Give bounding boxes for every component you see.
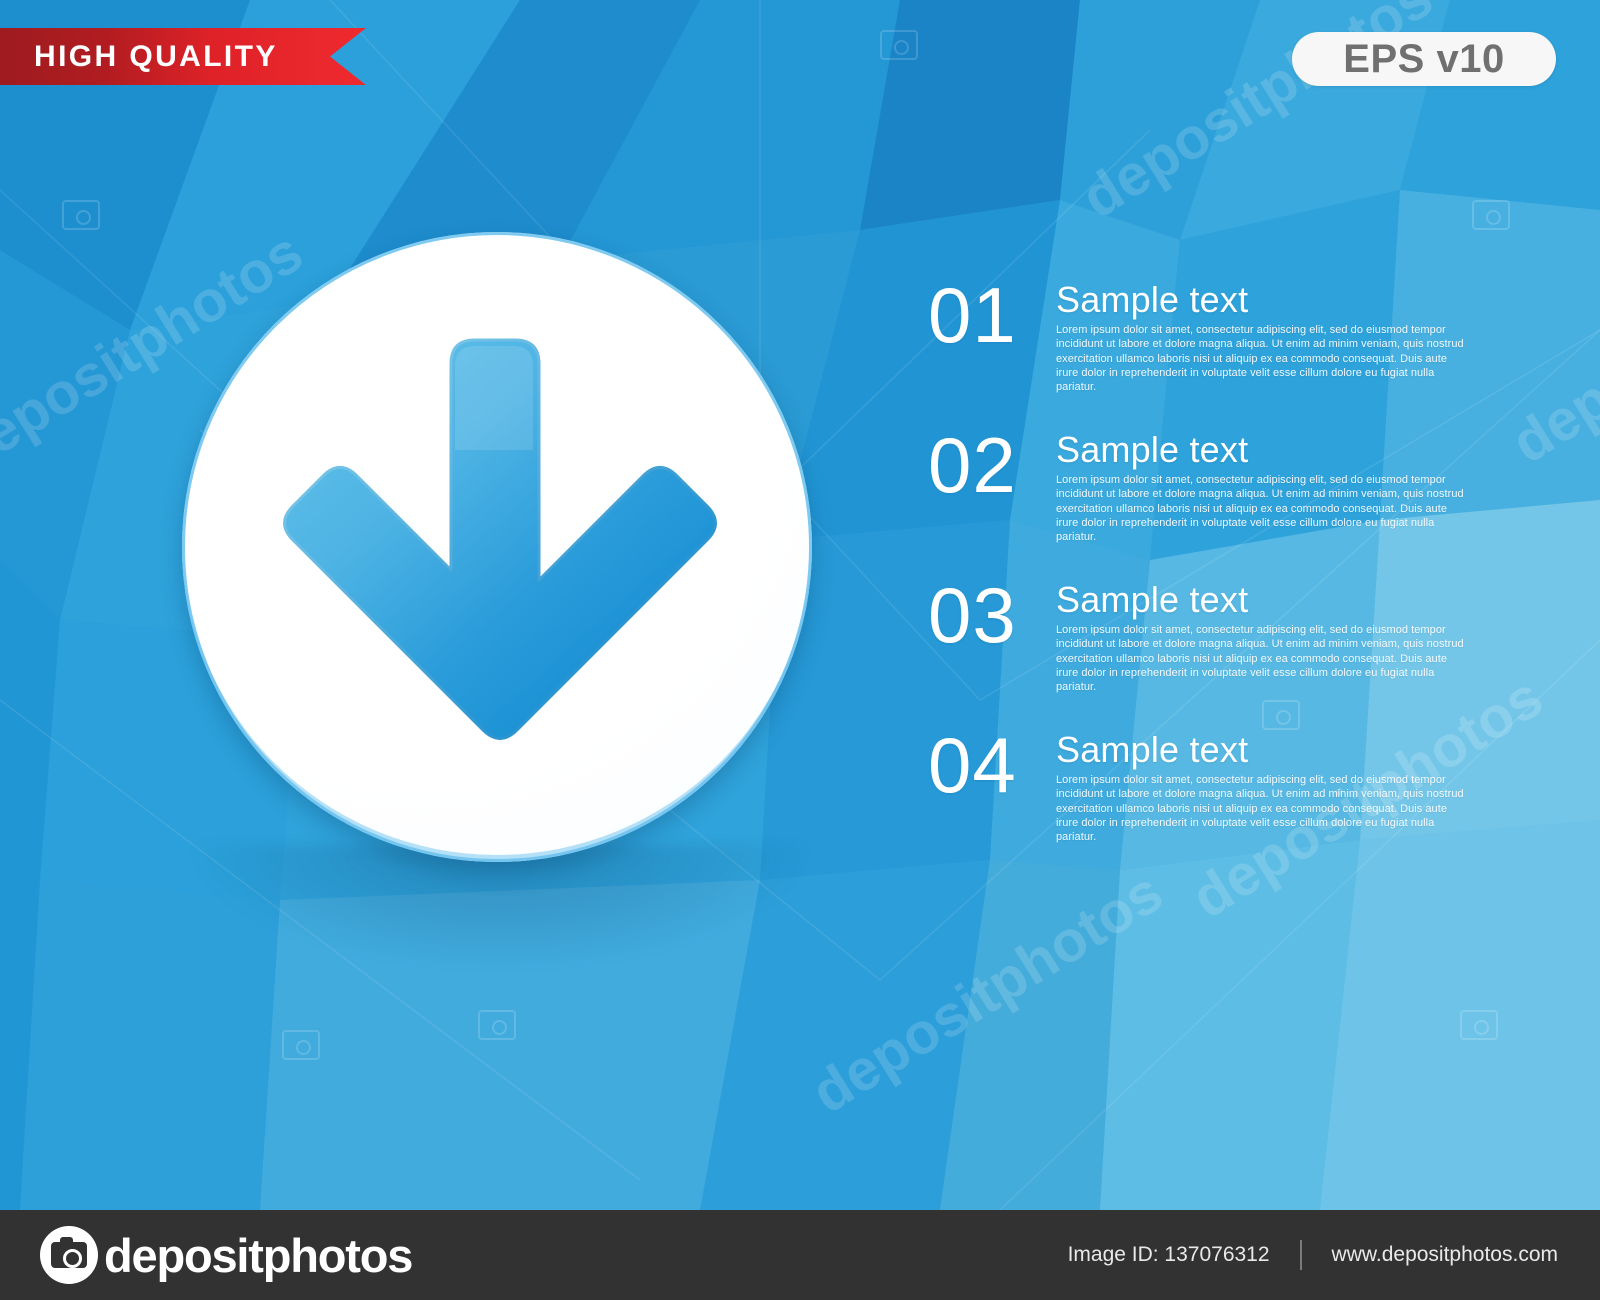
item-title: Sample text xyxy=(1056,582,1466,618)
eps-version-label: EPS v10 xyxy=(1343,39,1504,79)
item-description: Lorem ipsum dolor sit amet, consectetur … xyxy=(1056,473,1466,544)
item-number: 01 xyxy=(928,276,1043,354)
item-description: Lorem ipsum dolor sit amet, consectetur … xyxy=(1056,323,1466,394)
depositphotos-logo[interactable]: depositphotos xyxy=(40,1226,412,1284)
item-title: Sample text xyxy=(1056,282,1466,318)
site-url-label: www.depositphotos.com xyxy=(1332,1243,1558,1267)
item-title: Sample text xyxy=(1056,432,1466,468)
item-number: 04 xyxy=(928,726,1043,804)
list-item[interactable]: 02 Sample text Lorem ipsum dolor sit ame… xyxy=(928,432,1568,542)
ribbon-label: HIGH QUALITY xyxy=(34,28,278,85)
image-id-label: Image ID: 137076312 xyxy=(1068,1243,1270,1267)
item-number: 03 xyxy=(928,576,1043,654)
footer-bar: depositphotos Image ID: 137076312 www.de… xyxy=(0,1210,1600,1300)
list-item[interactable]: 01 Sample text Lorem ipsum dolor sit ame… xyxy=(928,282,1568,392)
item-body: Sample text Lorem ipsum dolor sit amet, … xyxy=(1056,732,1466,844)
item-body: Sample text Lorem ipsum dolor sit amet, … xyxy=(1056,582,1466,694)
item-description: Lorem ipsum dolor sit amet, consectetur … xyxy=(1056,623,1466,694)
item-title: Sample text xyxy=(1056,732,1466,768)
high-quality-ribbon: HIGH QUALITY xyxy=(0,28,366,85)
download-arrow-icon[interactable] xyxy=(255,330,735,770)
footer-meta: Image ID: 137076312 www.depositphotos.co… xyxy=(1068,1240,1558,1270)
list-item[interactable]: 04 Sample text Lorem ipsum dolor sit ame… xyxy=(928,732,1568,842)
poster-canvas: depositphotos depositphotos depositphoto… xyxy=(0,0,1600,1300)
icon-drop-shadow xyxy=(195,845,805,965)
item-body: Sample text Lorem ipsum dolor sit amet, … xyxy=(1056,282,1466,394)
download-arrow-glyph xyxy=(255,330,735,770)
item-description: Lorem ipsum dolor sit amet, consectetur … xyxy=(1056,773,1466,844)
camera-icon xyxy=(40,1226,98,1284)
item-body: Sample text Lorem ipsum dolor sit amet, … xyxy=(1056,432,1466,544)
footer-divider xyxy=(1300,1240,1302,1270)
eps-version-badge: EPS v10 xyxy=(1292,32,1556,86)
camera-icon-body xyxy=(51,1242,87,1268)
list-item[interactable]: 03 Sample text Lorem ipsum dolor sit ame… xyxy=(928,582,1568,692)
item-number: 02 xyxy=(928,426,1043,504)
brand-wordmark: depositphotos xyxy=(104,1232,412,1279)
